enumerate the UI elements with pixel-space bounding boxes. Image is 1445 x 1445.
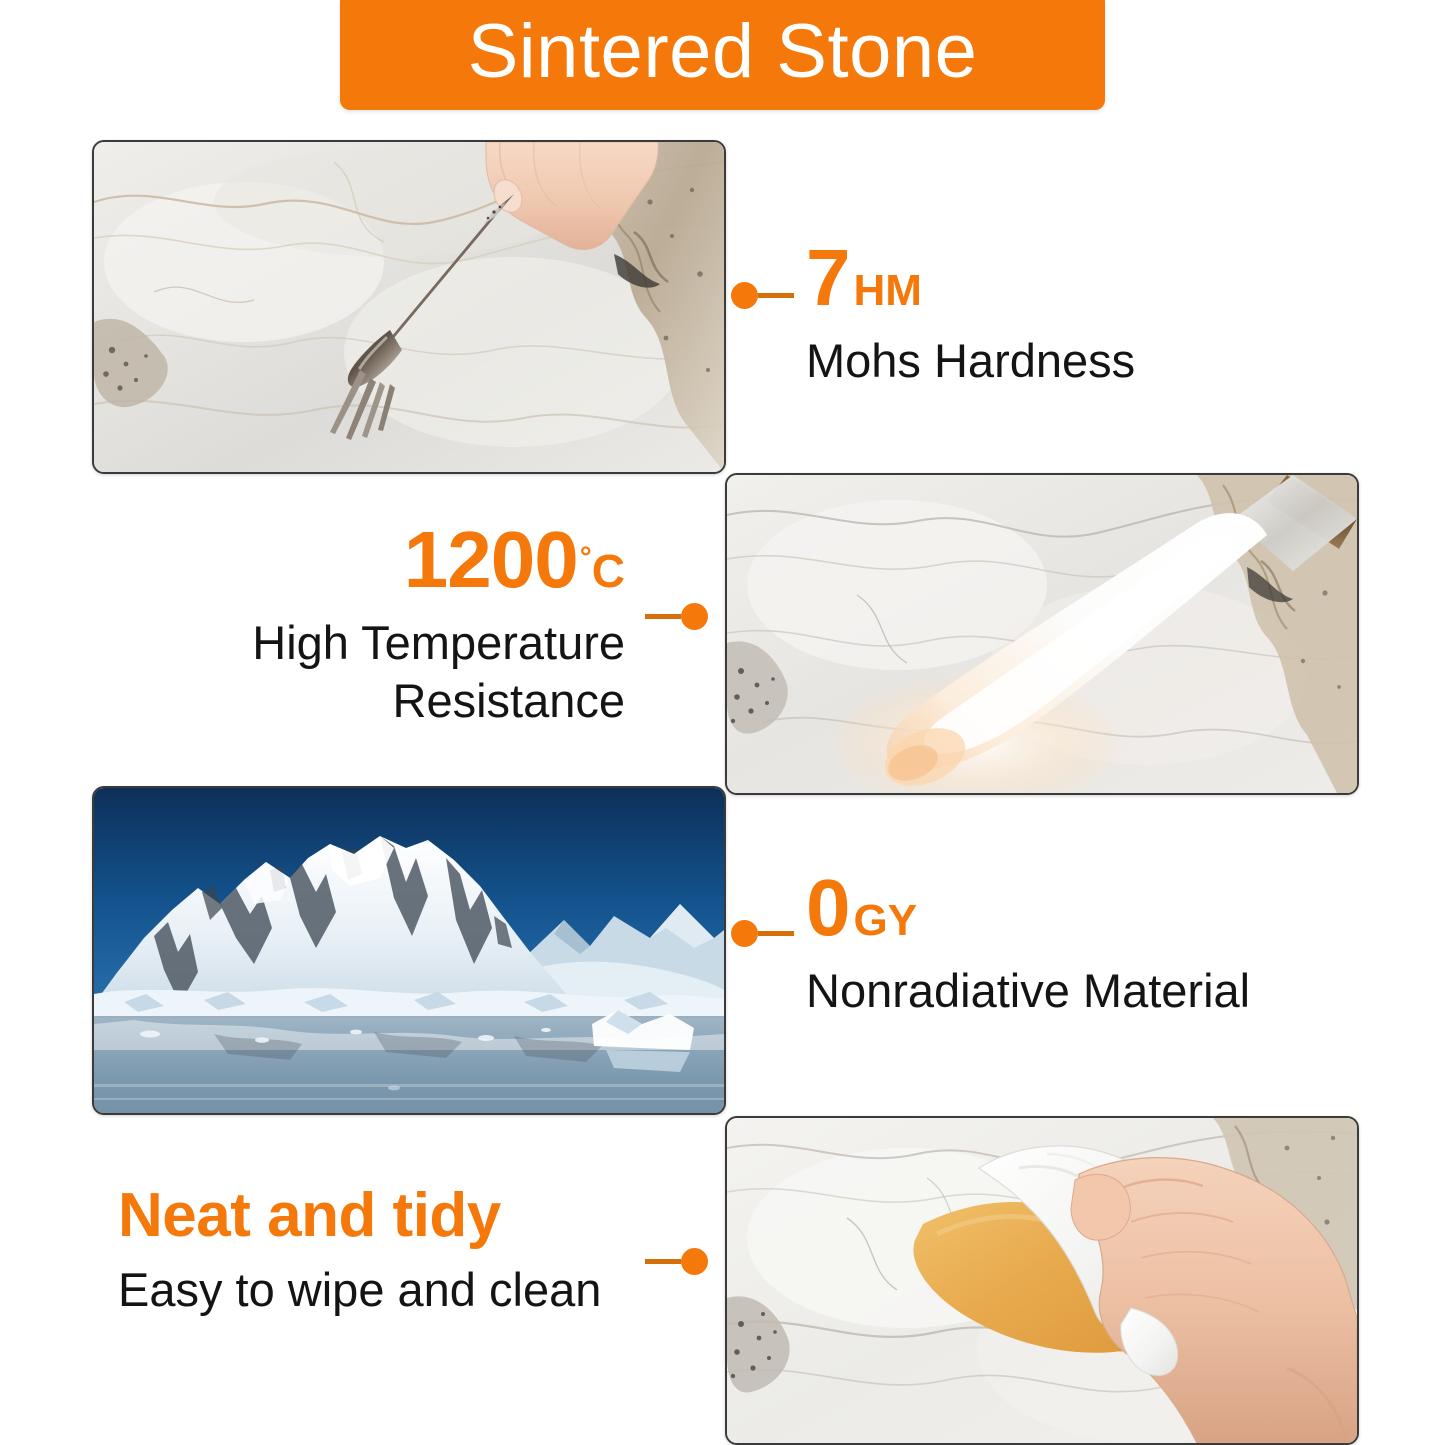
- degree-symbol: °: [580, 541, 592, 574]
- hand-wiping-stain-illustration: [727, 1118, 1357, 1443]
- feature-description: Mohs Hardness: [806, 332, 1135, 390]
- connector-line-icon: [645, 1259, 681, 1264]
- connector-mohs-hardness: [731, 281, 794, 309]
- connector-dot-icon: [681, 1248, 708, 1275]
- feature-headline: Neat and tidy: [118, 1185, 601, 1247]
- feature-headline: 0GY: [806, 868, 1250, 948]
- feature-value: Neat and tidy: [118, 1181, 501, 1250]
- feature-value: 1200: [404, 515, 578, 604]
- photo-neat-and-tidy-wipe-test: [725, 1116, 1359, 1445]
- feature-description: High Temperature Resistance: [195, 614, 625, 731]
- title-banner: Sintered Stone: [340, 0, 1105, 110]
- feature-description-line1: High Temperature: [252, 616, 625, 669]
- photo-mohs-hardness-fork-test: [92, 140, 726, 474]
- feature-headline: 7HM: [806, 238, 1135, 318]
- connector-dot-icon: [731, 920, 758, 947]
- feature-unit: C: [592, 545, 625, 597]
- feature-unit: GY: [854, 896, 918, 945]
- connector-high-temperature-resistance: [645, 602, 708, 630]
- feature-description: Nonradiative Material: [806, 962, 1250, 1020]
- feature-high-temperature-resistance: 1200°C High Temperature Resistance: [195, 520, 625, 731]
- connector-dot-icon: [681, 603, 708, 630]
- feature-value: 7: [806, 233, 850, 322]
- feature-mohs-hardness: 7HM Mohs Hardness: [806, 238, 1135, 390]
- feature-nonradiative-material: 0GY Nonradiative Material: [806, 868, 1250, 1020]
- photo-high-temperature-torch-test: [725, 473, 1359, 795]
- connector-dot-icon: [731, 282, 758, 309]
- photo-nonradiative-snow-mountains: [92, 786, 726, 1115]
- feature-description: Easy to wipe and clean: [118, 1261, 601, 1319]
- snow-mountain-landscape-illustration: [94, 788, 724, 1113]
- feature-unit: HM: [854, 266, 922, 315]
- page-title: Sintered Stone: [468, 14, 978, 96]
- feature-headline: 1200°C: [195, 520, 625, 600]
- connector-nonradiative-material: [731, 919, 794, 947]
- fork-on-marble-illustration: [94, 142, 724, 472]
- connector-line-icon: [758, 931, 794, 936]
- feature-description-line2: Resistance: [393, 674, 626, 727]
- feature-neat-and-tidy: Neat and tidy Easy to wipe and clean: [118, 1185, 601, 1319]
- connector-line-icon: [758, 293, 794, 298]
- connector-line-icon: [645, 614, 681, 619]
- connector-neat-and-tidy: [645, 1247, 708, 1275]
- blowtorch-flame-on-marble-illustration: [727, 475, 1357, 793]
- feature-value: 0: [806, 863, 850, 952]
